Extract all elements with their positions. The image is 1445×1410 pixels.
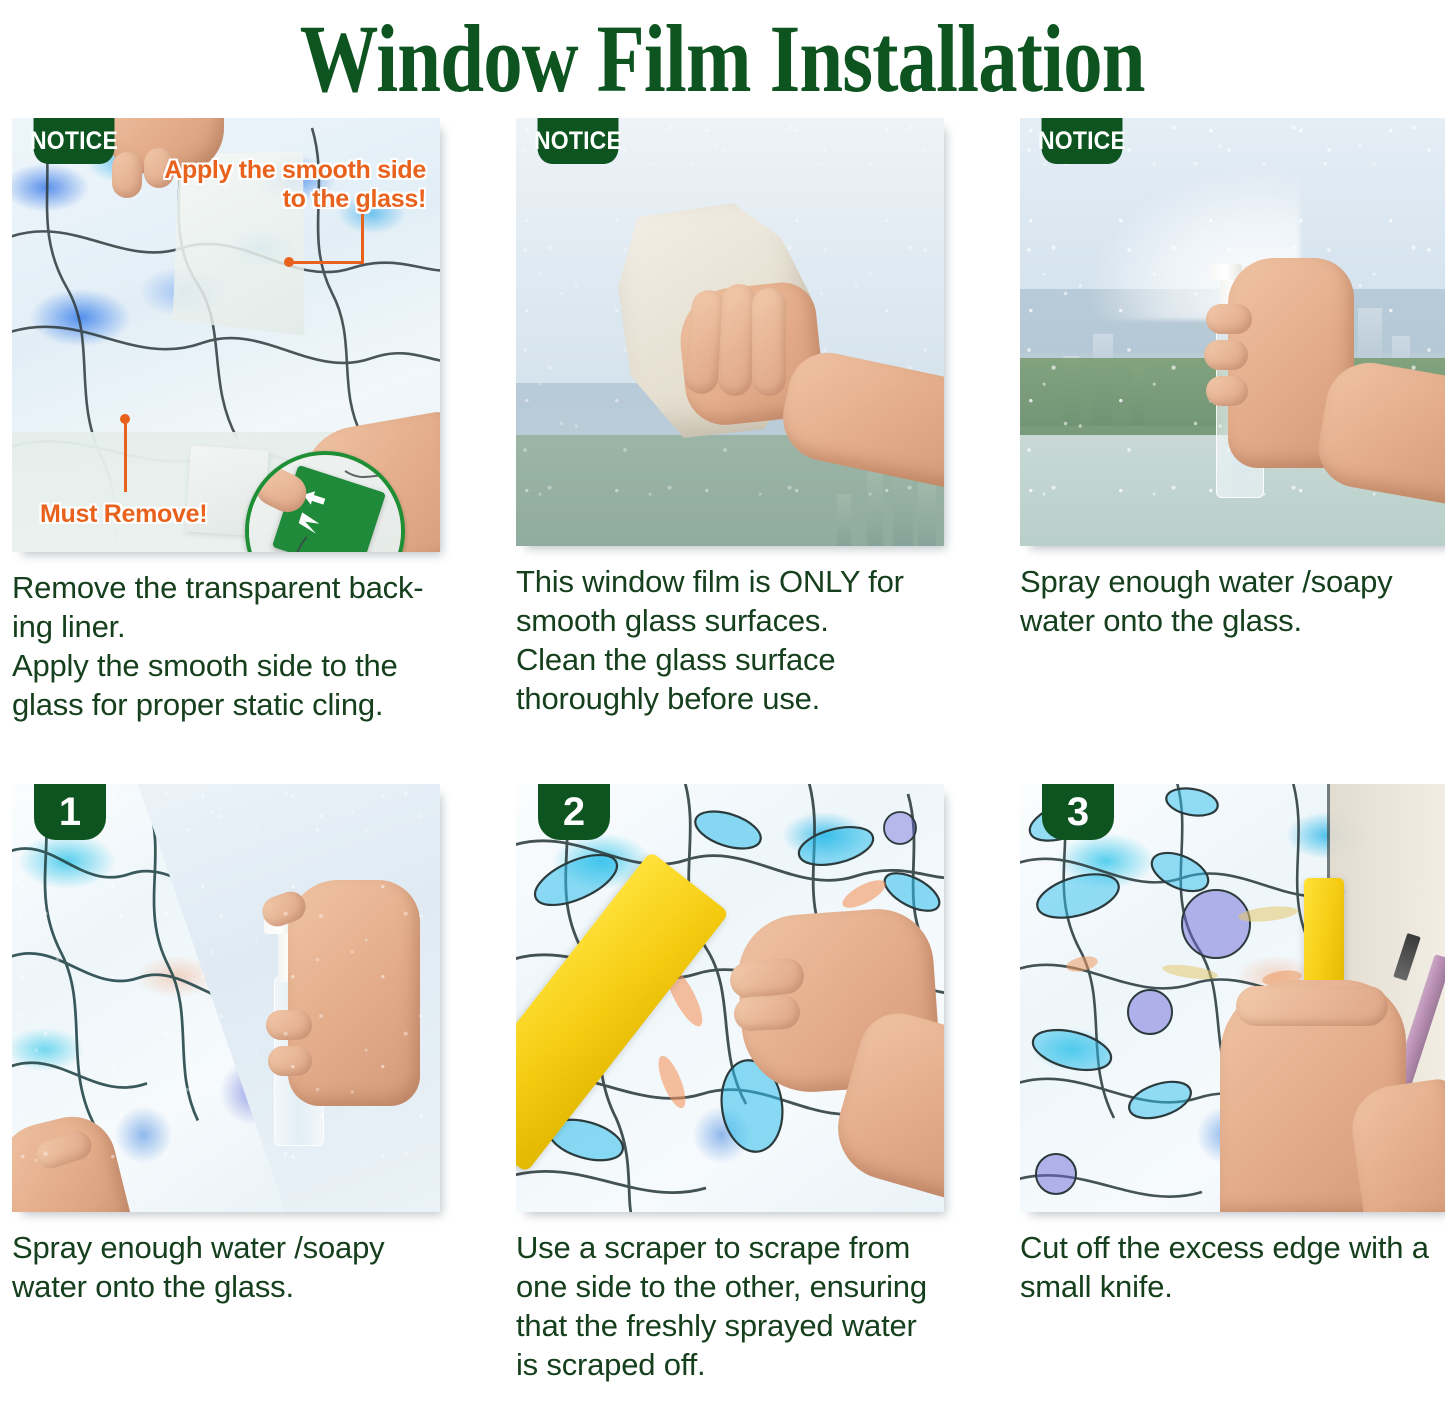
badge-step-2-label: 2 [563, 790, 585, 835]
badge-step-3: 3 [1042, 784, 1114, 840]
badge-notice-3-label: NOTICE [1038, 127, 1126, 156]
panel-notice-backing-liner: Apply the smooth side to the glass! Must… [12, 118, 450, 724]
badge-notice-2: NOTICE [538, 118, 619, 164]
panel-step-3-trim: 3 Cut off the excess edge with a small k… [1020, 784, 1445, 1384]
caption-clean-glass: This window film is ONLY for smooth glas… [516, 546, 954, 718]
badge-notice-1: NOTICE [34, 118, 115, 164]
badge-notice-3: NOTICE [1042, 118, 1123, 164]
badge-step-1-label: 1 [59, 790, 81, 835]
scene-step-2 [516, 784, 944, 1212]
page-title: Window Film Installation [300, 11, 1145, 107]
badge-notice-2-label: NOTICE [534, 127, 622, 156]
badge-notice-1-label: NOTICE [30, 127, 118, 156]
finger-1 [1206, 304, 1252, 334]
leader-line-vertical-1 [361, 212, 364, 264]
knuckles [1236, 986, 1388, 1026]
caption-spray-water: Spray enough water /soapy water onto the… [1020, 546, 1445, 640]
magnifier-inset [245, 451, 405, 552]
instruction-grid: Apply the smooth side to the glass! Must… [0, 118, 1445, 1384]
callout-apply-smooth-side: Apply the smooth side to the glass! [154, 156, 426, 213]
scene-spray-water [1020, 118, 1445, 546]
caption-step-3: Cut off the excess edge with a small kni… [1020, 1212, 1445, 1306]
panel-step-1-spray: 1 Spray enough water /soapy water onto t… [12, 784, 450, 1384]
panel-image-clean-glass: NOTICE [516, 118, 944, 546]
finger-top-1 [112, 152, 142, 198]
finger-2 [717, 283, 757, 397]
leader-line-vertical-2 [124, 420, 127, 492]
caption-backing-liner: Remove the transparent back- ing liner. … [12, 552, 450, 724]
scene-step-1 [12, 784, 440, 1212]
panel-image-step-3: 3 [1020, 784, 1445, 1212]
header: Window Film Installation [0, 0, 1445, 118]
leader-line-horizontal-1 [290, 261, 364, 264]
finger-2 [733, 994, 801, 1031]
panel-notice-spray-water: NOTICE Spray enough water /soapy water o… [1020, 118, 1445, 724]
badge-step-2: 2 [538, 784, 610, 840]
finger-2 [1204, 340, 1248, 370]
scene-step-3 [1020, 784, 1445, 1212]
badge-step-1: 1 [34, 784, 106, 840]
panel-step-2-scrape: 2 Use a scraper to scrape from one side … [516, 784, 954, 1384]
panel-image-spray-water: NOTICE [1020, 118, 1445, 546]
caption-step-1: Spray enough water /soapy water onto the… [12, 1212, 450, 1306]
inset-film-lines [249, 455, 401, 552]
caption-step-2: Use a scraper to scrape from one side to… [516, 1212, 954, 1384]
finger-3 [1206, 376, 1248, 406]
badge-step-3-label: 3 [1067, 790, 1089, 835]
panel-image-step-1: 1 [12, 784, 440, 1212]
panel-image-step-2: 2 [516, 784, 944, 1212]
finger-3 [752, 288, 786, 396]
leader-dot-1 [284, 257, 294, 267]
water-droplets [12, 784, 440, 1212]
scene-clean-glass [516, 118, 944, 546]
leader-dot-2 [120, 414, 130, 424]
panel-image-backing-liner: Apply the smooth side to the glass! Must… [12, 118, 440, 552]
callout-must-remove: Must Remove! [40, 500, 207, 529]
panel-notice-clean-glass: NOTICE This window film is ONLY for smoo… [516, 118, 954, 724]
